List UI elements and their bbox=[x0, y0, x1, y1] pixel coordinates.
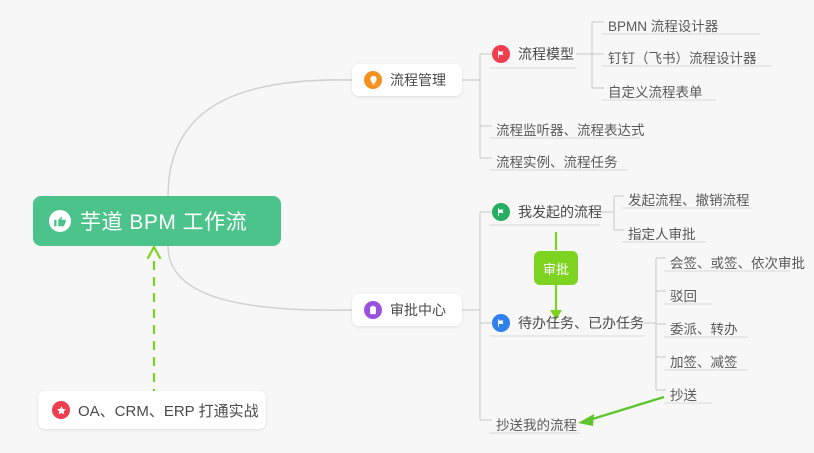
leaf-process-listener-expression[interactable]: 流程监听器、流程表达式 bbox=[490, 116, 651, 144]
branch-label: 流程管理 bbox=[390, 70, 446, 90]
branch-process-management[interactable]: 流程管理 bbox=[352, 64, 462, 96]
branch-approval-center[interactable]: 审批中心 bbox=[352, 294, 462, 326]
lightbulb-icon bbox=[364, 71, 382, 89]
leaf-countersign-or-sequential[interactable]: 会签、或签、依次审批 bbox=[664, 249, 811, 277]
thumbs-up-icon bbox=[49, 210, 71, 232]
approval-highlight-pill[interactable]: 审批 bbox=[534, 251, 578, 285]
node-todo-done-tasks[interactable]: 待办任务、已办任务 bbox=[492, 313, 644, 333]
leaf-reject[interactable]: 驳回 bbox=[664, 282, 703, 310]
star-icon bbox=[52, 401, 70, 419]
bottom-note-card[interactable]: OA、CRM、ERP 打通实战 bbox=[38, 391, 266, 429]
node-label: 流程模型 bbox=[518, 44, 574, 64]
leaf-cc-to-me-process[interactable]: 抄送我的流程 bbox=[490, 411, 583, 439]
mindmap-canvas: 芋道 BPM 工作流 流程管理 流程模型 BPMN 流程设计器 钉钉（飞书）流程… bbox=[0, 0, 814, 453]
branch-label: 审批中心 bbox=[390, 300, 446, 320]
node-my-initiated-process[interactable]: 我发起的流程 bbox=[492, 202, 602, 222]
clipboard-icon bbox=[364, 301, 382, 319]
root-node[interactable]: 芋道 BPM 工作流 bbox=[33, 196, 281, 246]
leaf-custom-process-form[interactable]: 自定义流程表单 bbox=[602, 78, 709, 106]
node-label: 待办任务、已办任务 bbox=[518, 313, 644, 333]
leaf-bpmn-designer[interactable]: BPMN 流程设计器 bbox=[602, 12, 724, 40]
approval-pill-label: 审批 bbox=[543, 259, 569, 278]
leaf-delegate-transfer[interactable]: 委派、转办 bbox=[664, 315, 744, 343]
leaf-process-instance-task[interactable]: 流程实例、流程任务 bbox=[490, 148, 624, 176]
node-label: 我发起的流程 bbox=[518, 202, 602, 222]
leaf-start-cancel-process[interactable]: 发起流程、撤销流程 bbox=[622, 186, 756, 214]
root-label: 芋道 BPM 工作流 bbox=[80, 206, 247, 236]
red-flag-icon bbox=[492, 45, 510, 63]
blue-flag-icon bbox=[492, 314, 510, 332]
bottom-note-label: OA、CRM、ERP 打通实战 bbox=[78, 400, 259, 421]
leaf-assignee-approval[interactable]: 指定人审批 bbox=[622, 220, 702, 248]
leaf-add-remove-sign[interactable]: 加签、减签 bbox=[664, 348, 744, 376]
green-flag-icon bbox=[492, 203, 510, 221]
leaf-cc[interactable]: 抄送 bbox=[664, 381, 703, 409]
node-process-model[interactable]: 流程模型 bbox=[492, 44, 574, 64]
leaf-dingtalk-feishu-designer[interactable]: 钉钉（飞书）流程设计器 bbox=[602, 44, 763, 72]
